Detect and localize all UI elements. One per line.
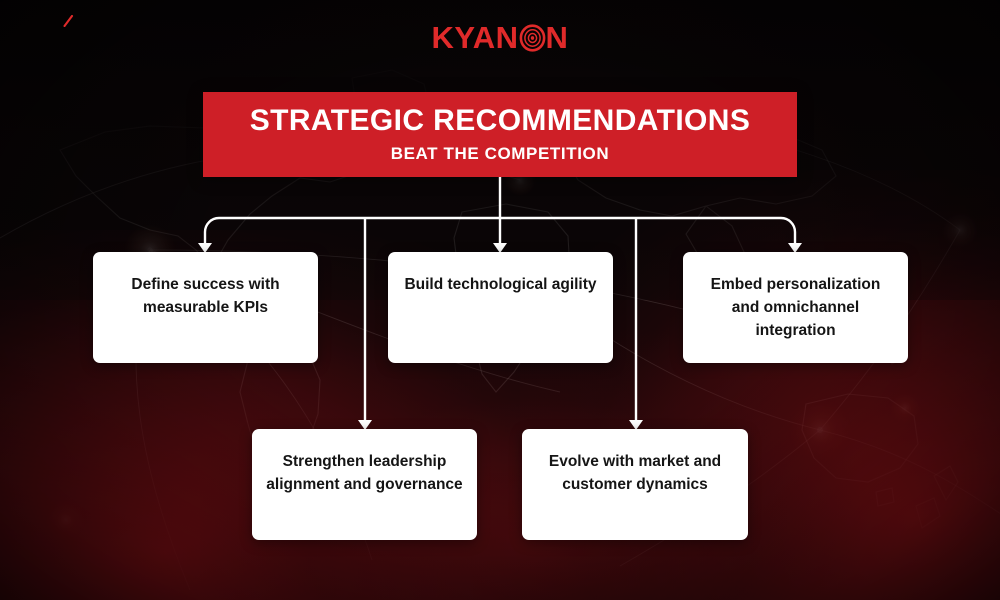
- card-text: Build technological agility: [390, 274, 610, 297]
- brand-logo: KYAN N: [0, 22, 1000, 53]
- brand-name-after-o: N: [546, 22, 569, 53]
- card-text: Define success with measurable KPIs: [93, 274, 318, 320]
- recommendation-card-technological-agility[interactable]: Build technological agility: [388, 252, 613, 363]
- recommendation-card-personalization[interactable]: Embed personalization and omnichannel in…: [683, 252, 908, 363]
- slide-canvas: KYAN N STRATEGIC RECOMMEND: [0, 0, 1000, 600]
- brand-name-before-o: KYAN: [432, 22, 519, 53]
- card-text: Embed personalization and omnichannel in…: [683, 274, 908, 343]
- brand-logo-text: KYAN N: [432, 22, 569, 53]
- card-text: Strengthen leadership alignment and gove…: [252, 451, 477, 497]
- headline-banner: STRATEGIC RECOMMENDATIONS BEAT THE COMPE…: [203, 92, 797, 177]
- recommendation-card-define-success[interactable]: Define success with measurable KPIs: [93, 252, 318, 363]
- card-text: Evolve with market and customer dynamics: [522, 451, 748, 497]
- banner-title: STRATEGIC RECOMMENDATIONS: [250, 105, 751, 137]
- recommendation-card-leadership-alignment[interactable]: Strengthen leadership alignment and gove…: [252, 429, 477, 540]
- acute-accent-icon: [63, 15, 74, 27]
- recommendation-card-market-dynamics[interactable]: Evolve with market and customer dynamics: [522, 429, 748, 540]
- target-spiral-icon: [519, 22, 546, 53]
- banner-subtitle: BEAT THE COMPETITION: [391, 144, 610, 164]
